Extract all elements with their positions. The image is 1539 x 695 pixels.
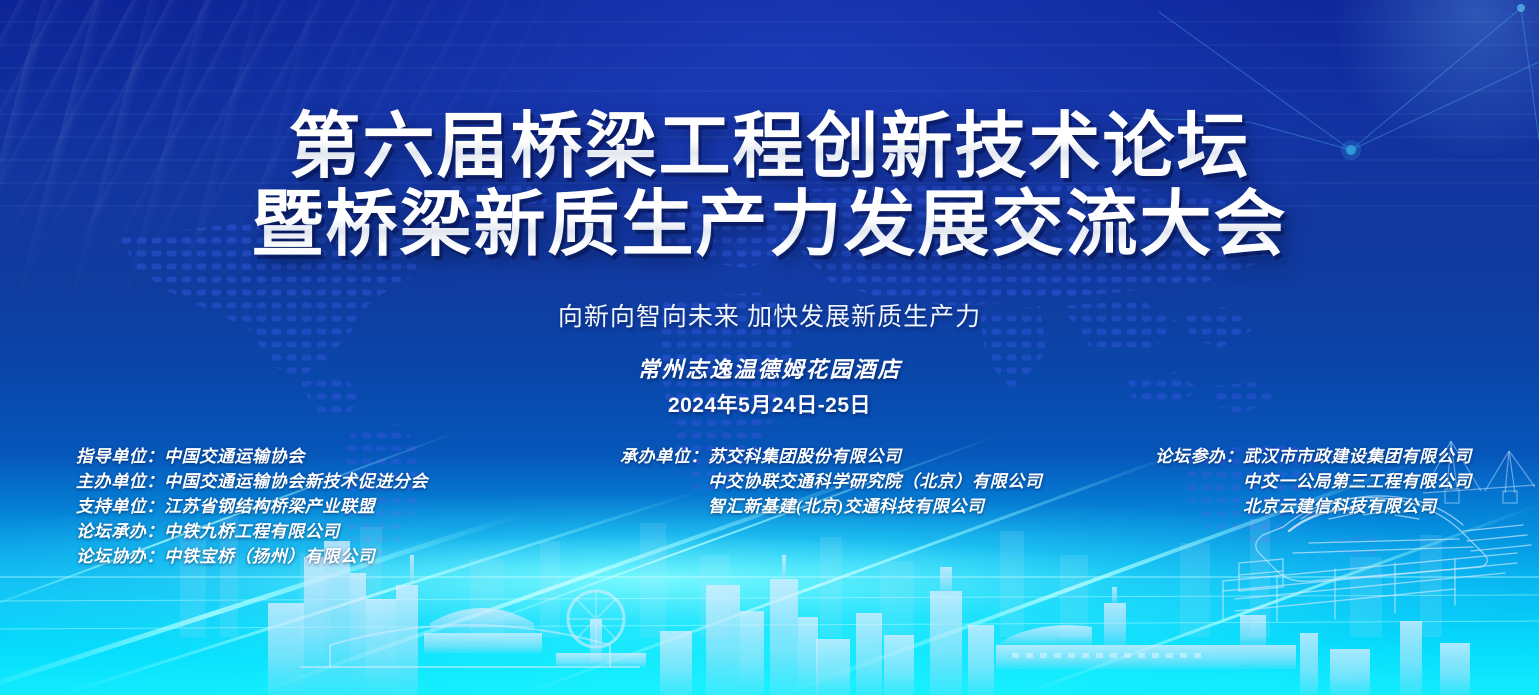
organizer-value: 智汇新基建(北京)交通科技有限公司 (708, 494, 985, 519)
organizer-value: 中国交通运输协会 (164, 444, 305, 469)
organizer-row: 承办单位： 苏交科集团股份有限公司 (620, 444, 1042, 469)
organizer-row: 论坛参办： 智汇新基建(北京)交通科技有限公司 (620, 494, 1042, 519)
organizers-block: 指导单位： 中国交通运输协会 主办单位： 中国交通运输协会新技术促进分会 支持单… (0, 444, 1539, 574)
organizer-value: 中铁九桥工程有限公司 (164, 519, 340, 544)
organizers-column-left: 指导单位： 中国交通运输协会 主办单位： 中国交通运输协会新技术促进分会 支持单… (76, 444, 428, 569)
organizer-value: 江苏省钢结构桥梁产业联盟 (164, 494, 375, 519)
organizer-row: 论坛承办： 中铁九桥工程有限公司 (76, 519, 428, 544)
organizer-row: 论坛参办： 北京云建信科技有限公司 (1155, 494, 1472, 519)
title-line-1: 第六届桥梁工程创新技术论坛 (0, 108, 1539, 186)
organizer-value: 苏交科集团股份有限公司 (708, 444, 902, 469)
organizers-column-right: 论坛参办： 武汉市市政建设集团有限公司 论坛参办： 中交一公局第三工程有限公司 … (1155, 444, 1472, 519)
organizer-value: 北京云建信科技有限公司 (1243, 494, 1437, 519)
organizer-value: 中交一公局第三工程有限公司 (1243, 469, 1472, 494)
organizer-label: 承办单位： (620, 444, 708, 469)
conference-banner: 第六届桥梁工程创新技术论坛 暨桥梁新质生产力发展交流大会 向新向智向未来 加快发… (0, 0, 1539, 695)
organizer-row: 指导单位： 中国交通运输协会 (76, 444, 428, 469)
organizer-value: 武汉市市政建设集团有限公司 (1243, 444, 1472, 469)
venue-date: 2024年5月24日-25日 (0, 389, 1539, 419)
organizer-row: 论坛参办： 武汉市市政建设集团有限公司 (1155, 444, 1472, 469)
organizer-row: 论坛参办： 中交协联交通科学研究院（北京）有限公司 (620, 469, 1042, 494)
organizer-label: 论坛承办： (76, 519, 164, 544)
organizer-value: 中国交通运输协会新技术促进分会 (164, 469, 428, 494)
organizer-label: 论坛协办： (76, 544, 164, 569)
organizer-value: 中交协联交通科学研究院（北京）有限公司 (708, 469, 1042, 494)
title-line-2: 暨桥梁新质生产力发展交流大会 (0, 186, 1539, 264)
organizer-row: 支持单位： 江苏省钢结构桥梁产业联盟 (76, 494, 428, 519)
organizer-label: 主办单位： (76, 469, 164, 494)
organizers-column-middle: 承办单位： 苏交科集团股份有限公司 论坛参办： 中交协联交通科学研究院（北京）有… (620, 444, 1042, 519)
organizer-label: 论坛参办： (1155, 444, 1243, 469)
organizer-row: 论坛协办： 中铁宝桥（扬州）有限公司 (76, 544, 428, 569)
venue-name: 常州志逸温德姆花园酒店 (0, 352, 1539, 384)
subtitle-slogan: 向新向智向未来 加快发展新质生产力 (0, 297, 1539, 333)
organizer-value: 中铁宝桥（扬州）有限公司 (164, 544, 375, 569)
page-title: 第六届桥梁工程创新技术论坛 暨桥梁新质生产力发展交流大会 (0, 108, 1539, 264)
organizer-label: 指导单位： (76, 444, 164, 469)
organizer-label: 支持单位： (76, 494, 164, 519)
organizer-row: 主办单位： 中国交通运输协会新技术促进分会 (76, 469, 428, 494)
venue-block: 常州志逸温德姆花园酒店 2024年5月24日-25日 (0, 352, 1539, 419)
banner-content: 第六届桥梁工程创新技术论坛 暨桥梁新质生产力发展交流大会 向新向智向未来 加快发… (0, 0, 1539, 695)
organizer-row: 论坛参办： 中交一公局第三工程有限公司 (1155, 469, 1472, 494)
